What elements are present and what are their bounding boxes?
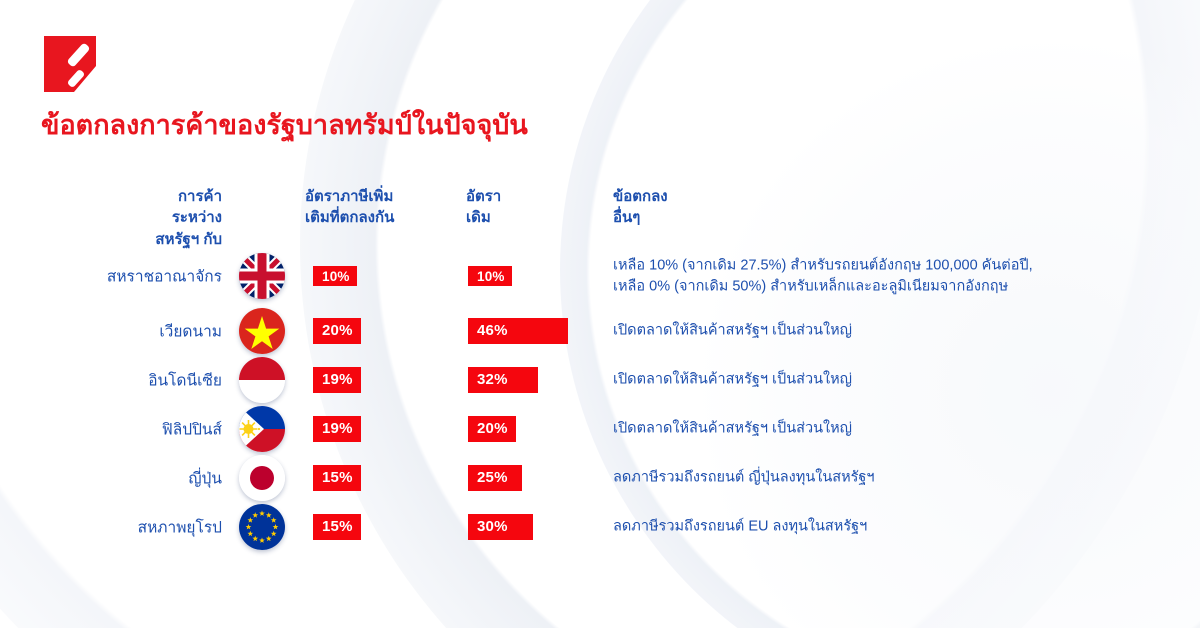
country-name: ญี่ปุ่น (62, 465, 222, 490)
table-body: สหราชอาณาจักร10%10%เหลือ 10% (จากเดิม 27… (0, 246, 1200, 551)
table-row: ญี่ปุ่น15%25%ลดภาษีรวมถึงรถยนต์ ญี่ปุ่นล… (0, 453, 1200, 502)
table-row: สหราชอาณาจักร10%10%เหลือ 10% (จากเดิม 27… (0, 246, 1200, 306)
country-name: อินโดนีเซีย (62, 367, 222, 392)
new-rate-label: 20% (322, 322, 353, 339)
old-rate-bar: 10% (468, 266, 512, 286)
infographic-page: ข้อตกลงการค้าของรัฐบาลทรัมป์ในปัจจุบัน ก… (0, 0, 1200, 628)
table-row: เวียดนาม20%46%เปิดตลาดให้สินค้าสหรัฐฯ เป… (0, 306, 1200, 355)
old-rate-label: 46% (477, 322, 508, 339)
new-rate-label: 19% (322, 371, 353, 388)
old-rate-bar: 25% (468, 465, 522, 491)
column-header-country: การค้า ระหว่าง สหรัฐฯ กับ (102, 186, 222, 250)
flag-japan-icon (239, 455, 285, 501)
new-rate-bar: 20% (313, 318, 361, 344)
new-rate-bar: 19% (313, 416, 361, 442)
column-header-new-rate: อัตราภาษีเพิ่ม เติมที่ตกลงกัน (305, 186, 455, 229)
column-header-old-rate: อัตรา เดิม (466, 186, 586, 229)
old-rate-label: 25% (477, 469, 508, 486)
old-rate-label: 30% (477, 518, 508, 535)
new-rate-bar: 19% (313, 367, 361, 393)
new-rate-bar: 15% (313, 514, 361, 540)
column-header-notes: ข้อตกลง อื่นๆ (613, 186, 1013, 229)
old-rate-bar: 20% (468, 416, 516, 442)
deal-notes: เปิดตลาดให้สินค้าสหรัฐฯ เป็นส่วนใหญ่ (613, 418, 1173, 439)
new-rate-label: 15% (322, 469, 353, 486)
document-pen-logo-icon (44, 36, 96, 92)
new-rate-label: 15% (322, 518, 353, 535)
deal-notes: เหลือ 10% (จากเดิม 27.5%) สำหรับรถยนต์อั… (613, 255, 1173, 296)
flag-vietnam-icon (239, 308, 285, 354)
table-row: ฟิลิปปินส์19%20%เปิดตลาดให้สินค้าสหรัฐฯ … (0, 404, 1200, 453)
country-name: ฟิลิปปินส์ (62, 416, 222, 441)
old-rate-label: 20% (477, 420, 508, 437)
deal-notes: ลดภาษีรวมถึงรถยนต์ EU ลงทุนในสหรัฐฯ (613, 516, 1173, 537)
flag-philippines-icon (239, 406, 285, 452)
old-rate-bar: 32% (468, 367, 538, 393)
new-rate-bar: 15% (313, 465, 361, 491)
flag-european-union-icon (239, 504, 285, 550)
old-rate-label: 32% (477, 371, 508, 388)
country-name: สหราชอาณาจักร (62, 264, 222, 289)
old-rate-bar: 30% (468, 514, 533, 540)
country-name: สหภาพยุโรป (62, 514, 222, 539)
flag-united-kingdom-icon (239, 253, 285, 299)
old-rate-label: 10% (477, 269, 505, 284)
page-title: ข้อตกลงการค้าของรัฐบาลทรัมป์ในปัจจุบัน (41, 103, 528, 146)
new-rate-bar: 10% (313, 266, 357, 286)
table-row: สหภาพยุโรป15%30%ลดภาษีรวมถึงรถยนต์ EU ลง… (0, 502, 1200, 551)
deal-notes: ลดภาษีรวมถึงรถยนต์ ญี่ปุ่นลงทุนในสหรัฐฯ (613, 467, 1173, 488)
new-rate-label: 10% (322, 269, 350, 284)
flag-indonesia-icon (239, 357, 285, 403)
deal-notes: เปิดตลาดให้สินค้าสหรัฐฯ เป็นส่วนใหญ่ (613, 369, 1173, 390)
country-name: เวียดนาม (62, 318, 222, 343)
table-row: อินโดนีเซีย19%32%เปิดตลาดให้สินค้าสหรัฐฯ… (0, 355, 1200, 404)
deal-notes: เปิดตลาดให้สินค้าสหรัฐฯ เป็นส่วนใหญ่ (613, 320, 1173, 341)
new-rate-label: 19% (322, 420, 353, 437)
old-rate-bar: 46% (468, 318, 568, 344)
